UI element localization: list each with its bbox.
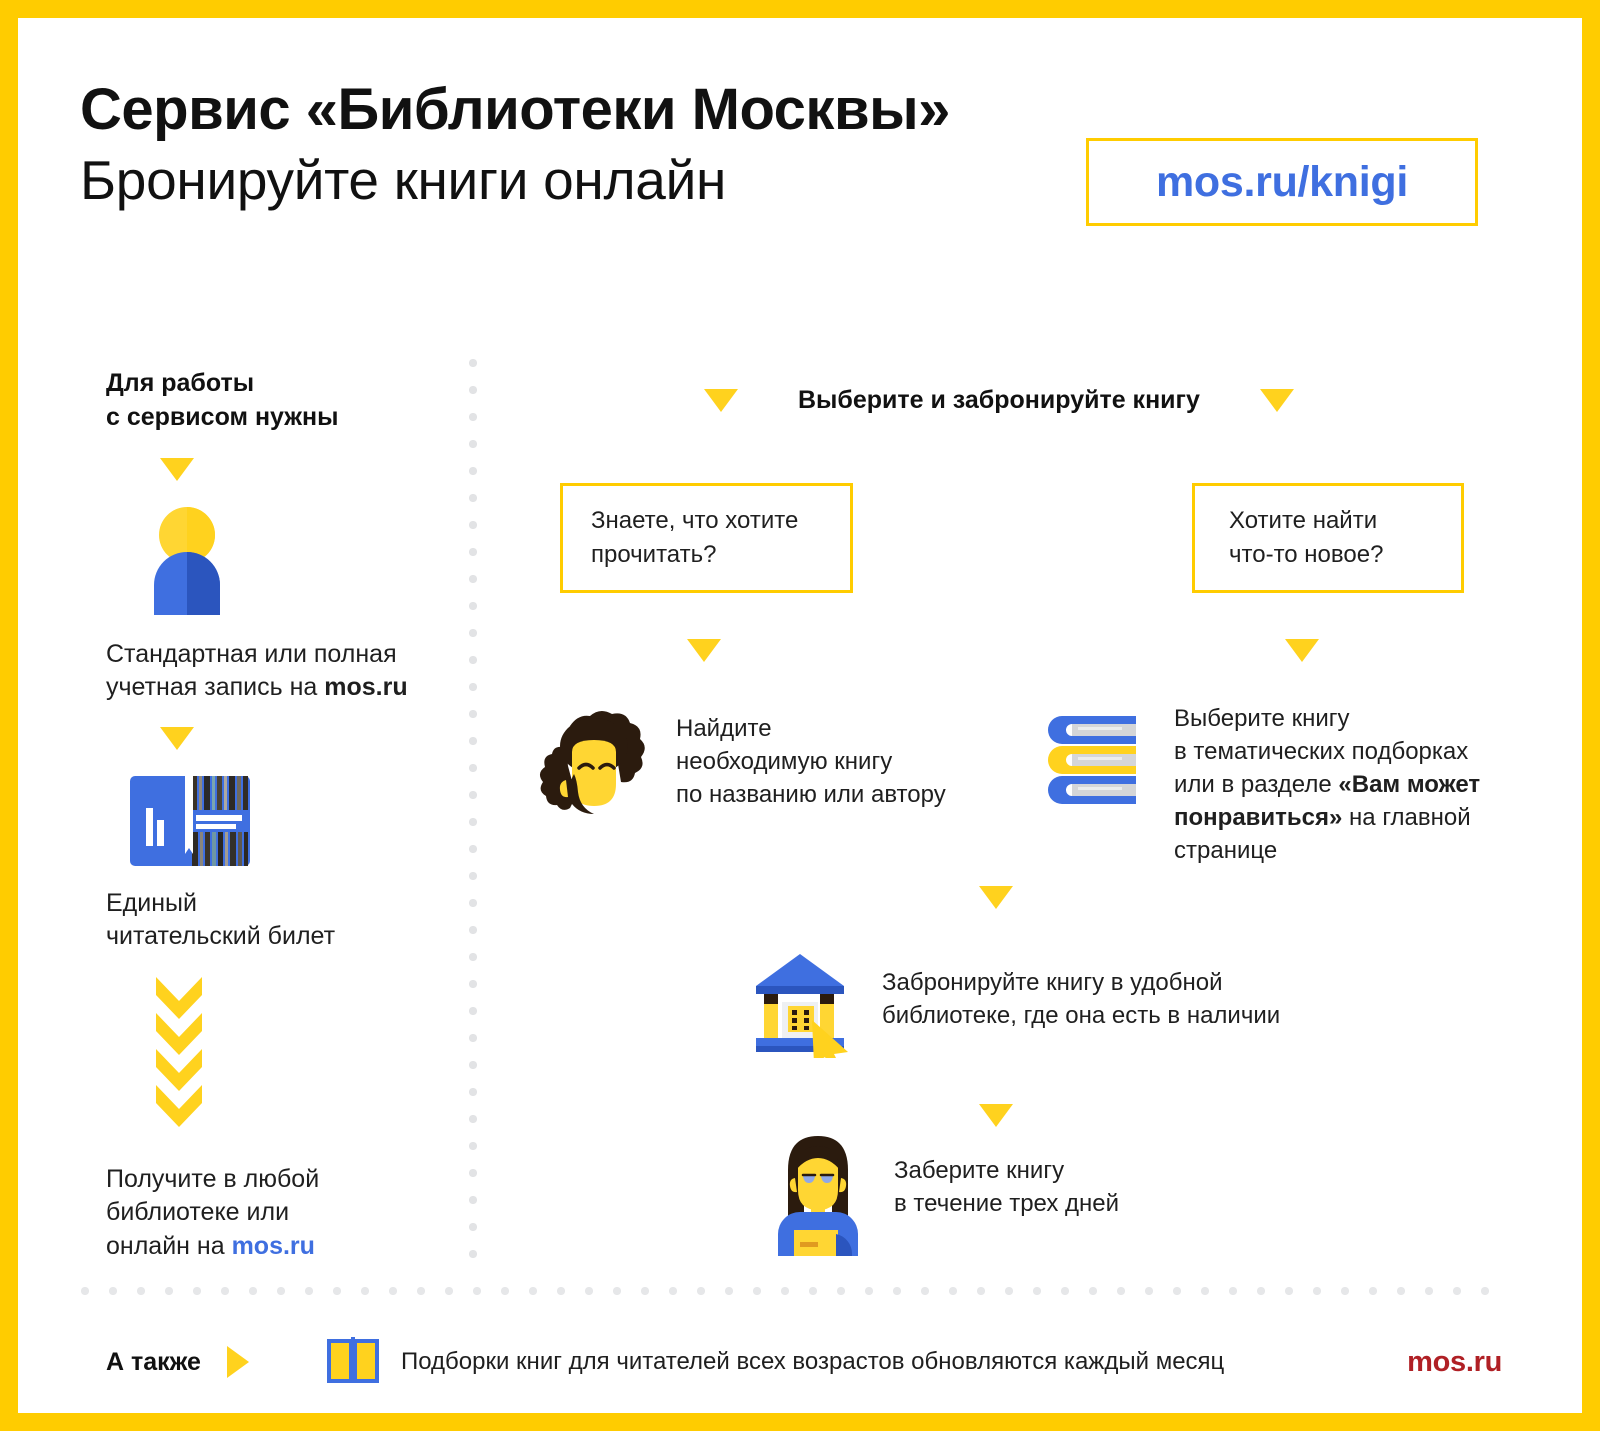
arrow-down-left-2 <box>160 727 436 750</box>
arrow-down-heading-left <box>704 389 738 412</box>
left-step3-text: Получите в любой библиотеке или онлайн н… <box>106 1163 436 1263</box>
url-badge[interactable]: mos.ru/knigi <box>1086 138 1478 226</box>
url-badge-label: mos.ru/knigi <box>1156 158 1408 207</box>
book-stack-icon <box>1048 698 1148 811</box>
triangle-right-icon <box>227 1346 249 1378</box>
step-pickup-book: Заберите книгу в течение трех дней <box>770 1126 1119 1261</box>
left-step1-text: Стандартная или полная учетная запись на… <box>106 638 436 705</box>
step-choose-collection-line5: странице <box>1174 834 1504 867</box>
step-find-book-line2: необходимую книгу <box>676 745 946 778</box>
arrow-down-branch-right <box>1285 639 1319 662</box>
step-choose-collection-line4: понравиться» на главной <box>1174 801 1504 834</box>
user-avatar-icon <box>144 507 436 620</box>
question-box-left: Знаете, что хотите прочитать? <box>560 483 853 593</box>
left-step3-line2: библиотеке или <box>106 1196 436 1229</box>
open-book-icon <box>325 1335 381 1390</box>
step-reserve-book-text: Забронируйте книгу в удобной библиотеке,… <box>882 966 1280 1032</box>
left-column: Для работы с сервисом нужны Стандартная … <box>106 366 436 1263</box>
left-lead-line1: Для работы <box>106 366 436 400</box>
left-step3-mosru-link[interactable]: mos.ru <box>232 1232 315 1260</box>
yellow-frame: Сервис «Библиотеки Москвы» Бронируйте кн… <box>0 0 1600 1431</box>
step-reserve-book-line1: Забронируйте книгу в удобной <box>882 966 1280 999</box>
step-pickup-book-line2: в течение трех дней <box>894 1187 1119 1220</box>
right-column-heading: Выберите и забронируйте книгу <box>798 386 1200 415</box>
step-reserve-book: Забронируйте книгу в удобной библиотеке,… <box>750 946 1280 1063</box>
arrow-down-left-1 <box>160 458 436 481</box>
infographic-canvas: Сервис «Библиотеки Москвы» Бронируйте кн… <box>18 18 1582 1413</box>
footer: А также Подборки книг для читателей всех… <box>106 1334 1502 1390</box>
question-box-right-text: Хотите найти что-то новое? <box>1229 504 1383 572</box>
question-box-left-text: Знаете, что хотите прочитать? <box>591 504 798 572</box>
left-step1-line1: Стандартная или полная <box>106 638 436 671</box>
footer-text: Подборки книг для читателей всех возраст… <box>401 1348 1224 1376</box>
step-pickup-book-line1: Заберите книгу <box>894 1154 1119 1187</box>
step-choose-collection-text: Выберите книгу в тематических подборках … <box>1174 702 1504 868</box>
step-choose-collection-line1: Выберите книгу <box>1174 702 1504 735</box>
arrow-down-to-pickup <box>979 1104 1013 1127</box>
step-find-book-line3: по названию или автору <box>676 778 946 811</box>
step-pickup-book-text: Заберите книгу в течение трех дней <box>894 1154 1119 1220</box>
left-step1-line2: учетная запись на mos.ru <box>106 671 436 704</box>
library-card-icon <box>130 776 436 871</box>
left-lead-line2: с сервисом нужны <box>106 400 436 434</box>
mosru-logo[interactable]: mos.ru <box>1407 1346 1502 1379</box>
chevron-stack <box>152 975 436 1147</box>
left-step2-line2: читательский билет <box>106 920 436 953</box>
arrow-down-to-booking <box>979 886 1013 909</box>
page-title-line1: Сервис «Библиотеки Москвы» <box>80 78 1520 143</box>
left-step1-mosru: mos.ru <box>324 673 407 701</box>
library-building-icon <box>750 946 858 1063</box>
step-find-book-text: Найдите необходимую книгу по названию ил… <box>676 712 946 811</box>
left-lead: Для работы с сервисом нужны <box>106 366 436 434</box>
left-step3-line3: онлайн на mos.ru <box>106 1230 436 1263</box>
woman-with-book-icon <box>770 1126 866 1261</box>
arrow-down-heading-right <box>1260 389 1294 412</box>
horizontal-dotted-divider <box>80 1286 1500 1296</box>
left-step3-line1: Получите в любой <box>106 1163 436 1196</box>
curly-hair-reader-icon <box>536 704 654 827</box>
arrow-down-branch-left <box>687 639 721 662</box>
left-step2-line1: Единый <box>106 887 436 920</box>
footer-also-label: А также <box>106 1348 201 1377</box>
step-find-book-line1: Найдите <box>676 712 946 745</box>
step-choose-collection-line2: в тематических подборках <box>1174 735 1504 768</box>
right-column-heading-row: Выберите и забронируйте книгу <box>704 386 1294 415</box>
step-choose-collection: Выберите книгу в тематических подборках … <box>1048 698 1504 868</box>
vertical-dotted-divider <box>468 358 478 1268</box>
step-choose-collection-line3: или в разделе «Вам может <box>1174 768 1504 801</box>
left-step2-text: Единый читательский билет <box>106 887 436 954</box>
question-box-right: Хотите найти что-то новое? <box>1192 483 1464 593</box>
step-reserve-book-line2: библиотеке, где она есть в наличии <box>882 999 1280 1032</box>
step-find-book: Найдите необходимую книгу по названию ил… <box>536 704 946 827</box>
